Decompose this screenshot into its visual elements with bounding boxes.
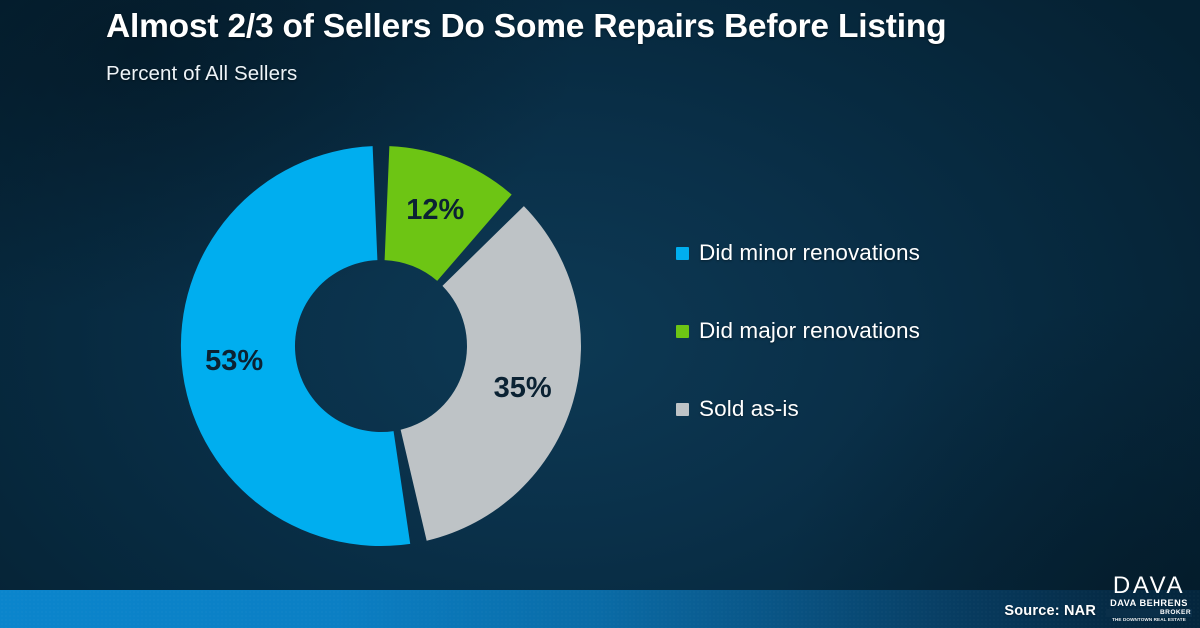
donut-slice-label: 35% <box>494 372 552 404</box>
legend-item[interactable]: Sold as-is <box>676 392 920 426</box>
header: Almost 2/3 of Sellers Do Some Repairs Be… <box>106 8 1106 86</box>
logo-role-bar: BROKER <box>1106 609 1192 617</box>
legend-item[interactable]: Did minor renovations <box>676 236 920 270</box>
logo-agent-name: DAVA BEHRENS <box>1106 599 1192 609</box>
square-swatch-icon <box>676 247 689 260</box>
legend-item-label: Did minor renovations <box>699 240 920 266</box>
page-title: Almost 2/3 of Sellers Do Some Repairs Be… <box>106 8 1106 46</box>
logo-tagline: THE DOWNTOWN REAL ESTATE <box>1106 618 1192 623</box>
legend-item-label: Sold as-is <box>699 396 799 422</box>
slide-background: Almost 2/3 of Sellers Do Some Repairs Be… <box>0 0 1200 628</box>
donut-chart-svg: 12%35%53% <box>168 133 594 559</box>
chart-legend: Did minor renovationsDid major renovatio… <box>676 236 920 426</box>
source-attribution: Source: NAR <box>1004 603 1096 619</box>
donut-slice-label: 53% <box>205 345 263 377</box>
page-subtitle: Percent of All Sellers <box>106 62 1106 86</box>
legend-item-label: Did major renovations <box>699 318 920 344</box>
donut-slice-label: 12% <box>406 194 464 226</box>
brand-logo: DAVA DAVA BEHRENS BROKER THE DOWNTOWN RE… <box>1106 574 1192 623</box>
logo-wordmark: DAVA <box>1106 574 1192 598</box>
logo-role-label: BROKER <box>1160 610 1191 617</box>
square-swatch-icon <box>676 325 689 338</box>
donut-chart: 12%35%53% <box>168 133 594 559</box>
square-swatch-icon <box>676 403 689 416</box>
legend-item[interactable]: Did major renovations <box>676 314 920 348</box>
